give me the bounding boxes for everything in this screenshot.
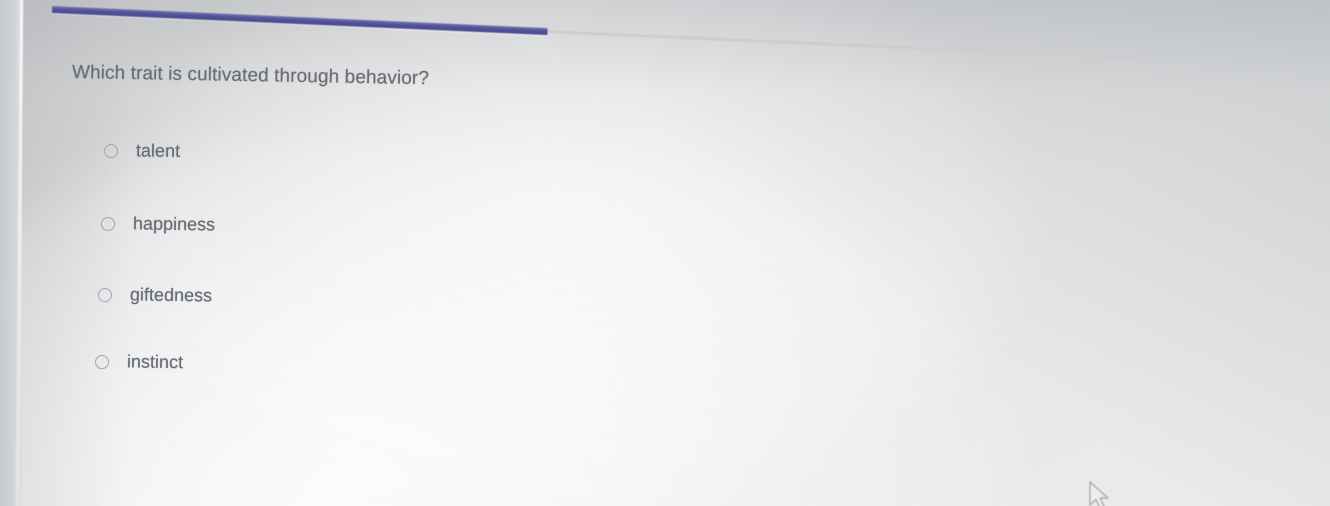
quiz-screen: Which trait is cultivated through behavi… <box>0 0 1330 506</box>
answer-option-label: happiness <box>133 213 215 235</box>
radio-button-icon[interactable] <box>104 144 118 158</box>
radio-button-icon[interactable] <box>98 288 112 302</box>
answer-option-label: talent <box>136 140 180 162</box>
answer-option-talent[interactable]: talent <box>104 140 180 162</box>
answer-option-happiness[interactable]: happiness <box>101 213 215 235</box>
radio-button-icon[interactable] <box>95 355 109 369</box>
answer-option-instinct[interactable]: instinct <box>95 351 183 373</box>
arrow-pointer-cursor <box>1088 481 1114 506</box>
answer-option-label: giftedness <box>130 284 212 306</box>
answer-option-label: instinct <box>127 351 183 373</box>
answer-option-giftedness[interactable]: giftedness <box>98 284 212 306</box>
radio-button-icon[interactable] <box>101 217 115 231</box>
